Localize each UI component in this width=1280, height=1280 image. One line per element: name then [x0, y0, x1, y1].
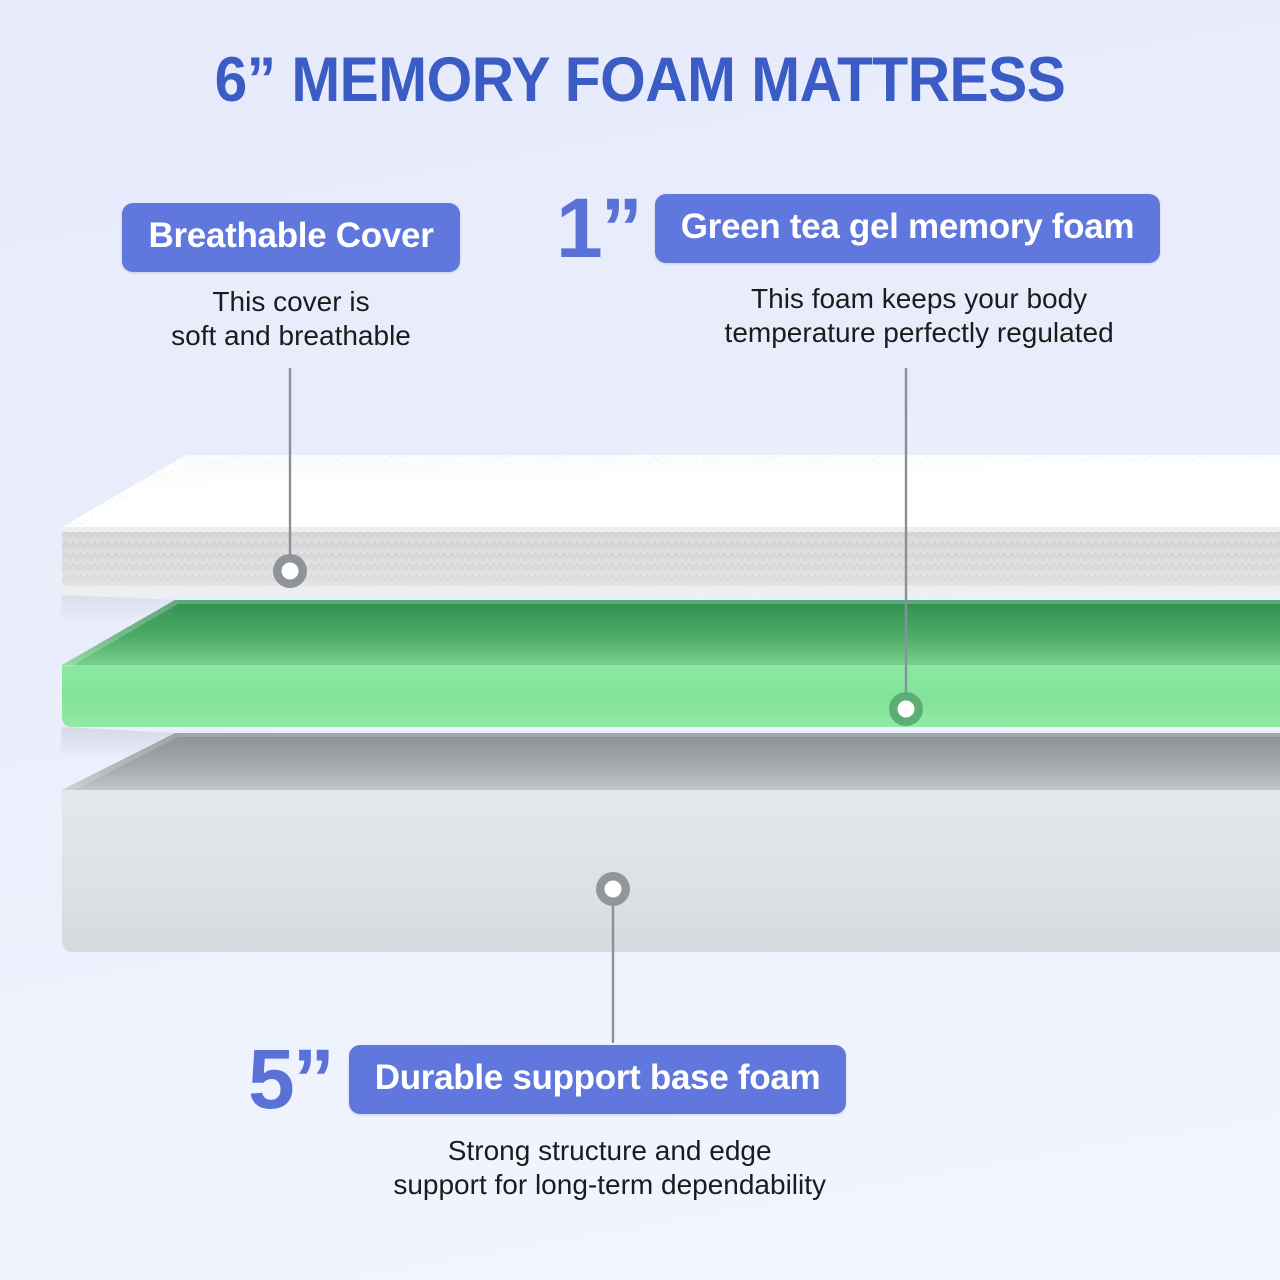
- callout-green-tea-gel: 1” Green tea gel memory foam This foam k…: [556, 186, 1160, 350]
- desc-breathable-cover: This cover is soft and breathable: [106, 285, 476, 353]
- page-title: 6” MEMORY FOAM MATTRESS: [45, 44, 1235, 116]
- base-foam-layer: [62, 733, 1280, 952]
- desc-green-tea-gel: This foam keeps your body temperature pe…: [556, 282, 1160, 350]
- desc-durable-base-foam: Strong structure and edge support for lo…: [248, 1134, 846, 1202]
- badge-breathable-cover[interactable]: Breathable Cover: [122, 203, 459, 272]
- desc-line-1: This cover is: [106, 285, 476, 319]
- desc-line-1: Strong structure and edge: [373, 1134, 846, 1168]
- callout-durable-base-foam: 5” Durable support base foam Strong stru…: [248, 1037, 846, 1202]
- callout-leader-base: [596, 872, 630, 1043]
- badge-green-tea-gel[interactable]: Green tea gel memory foam: [655, 194, 1161, 263]
- thickness-label-1-inch: 1”: [556, 186, 641, 270]
- badge-row-durable-base-foam: 5” Durable support base foam: [248, 1037, 846, 1121]
- desc-line-2: support for long-term dependability: [373, 1168, 846, 1202]
- thickness-label-5-inch: 5”: [248, 1037, 333, 1121]
- callout-leader-gel: [889, 368, 923, 726]
- callout-leader-cover: [273, 368, 307, 588]
- badge-durable-base-foam[interactable]: Durable support base foam: [349, 1045, 847, 1114]
- desc-line-1: This foam keeps your body: [678, 282, 1160, 316]
- callout-breathable-cover: Breathable Cover This cover is soft and …: [106, 203, 476, 353]
- infographic-canvas: 6” MEMORY FOAM MATTRESS: [0, 0, 1280, 1280]
- cover-layer: [60, 455, 1280, 626]
- badge-row-green-tea-gel: 1” Green tea gel memory foam: [556, 186, 1160, 270]
- desc-line-2: temperature perfectly regulated: [678, 316, 1160, 350]
- gel-foam-layer: [60, 600, 1280, 760]
- desc-line-2: soft and breathable: [106, 319, 476, 353]
